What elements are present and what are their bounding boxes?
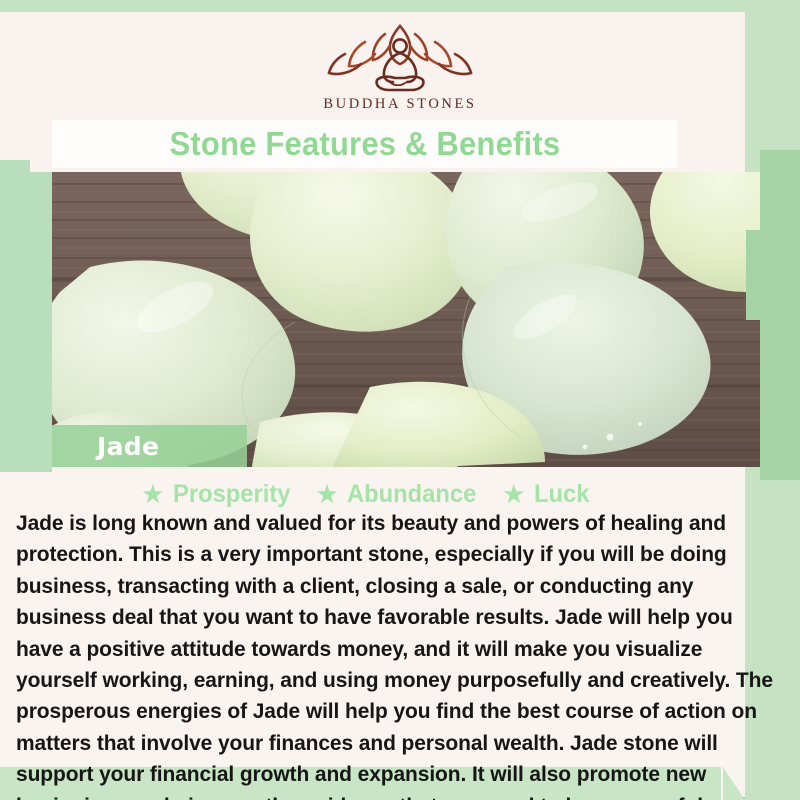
stone-name-badge: Jade [52, 425, 247, 467]
stone-photo [0, 172, 800, 467]
description-text: Jade is long known and valued for its be… [16, 508, 779, 800]
stone-name-label: Jade [97, 432, 159, 461]
title-banner: Stone Features & Benefits [52, 120, 677, 168]
page-title: Stone Features & Benefits [169, 125, 560, 163]
brand-logo: BUDDHA STONES [0, 20, 800, 113]
frame-left-bar [0, 172, 52, 472]
star-icon: ★ [317, 483, 338, 506]
benefit-abundance: Abundance [347, 480, 476, 509]
frame-right-accent-bar [760, 150, 800, 480]
stone-info-card: BUDDHA STONES Stone Features & Benefits [0, 0, 800, 800]
star-icon: ★ [504, 483, 525, 506]
benefits-row: ★ Prosperity ★ Abundance ★ Luck [0, 478, 745, 510]
benefit-luck: Luck [534, 480, 589, 509]
frame-right-accent-step [746, 230, 760, 320]
frame-top-bar [0, 0, 800, 12]
lotus-meditation-icon [0, 20, 800, 92]
star-icon: ★ [142, 483, 163, 506]
benefit-prosperity: Prosperity [173, 480, 290, 509]
bottom-band-corner [723, 767, 745, 800]
brand-name: BUDDHA STONES [0, 96, 800, 113]
